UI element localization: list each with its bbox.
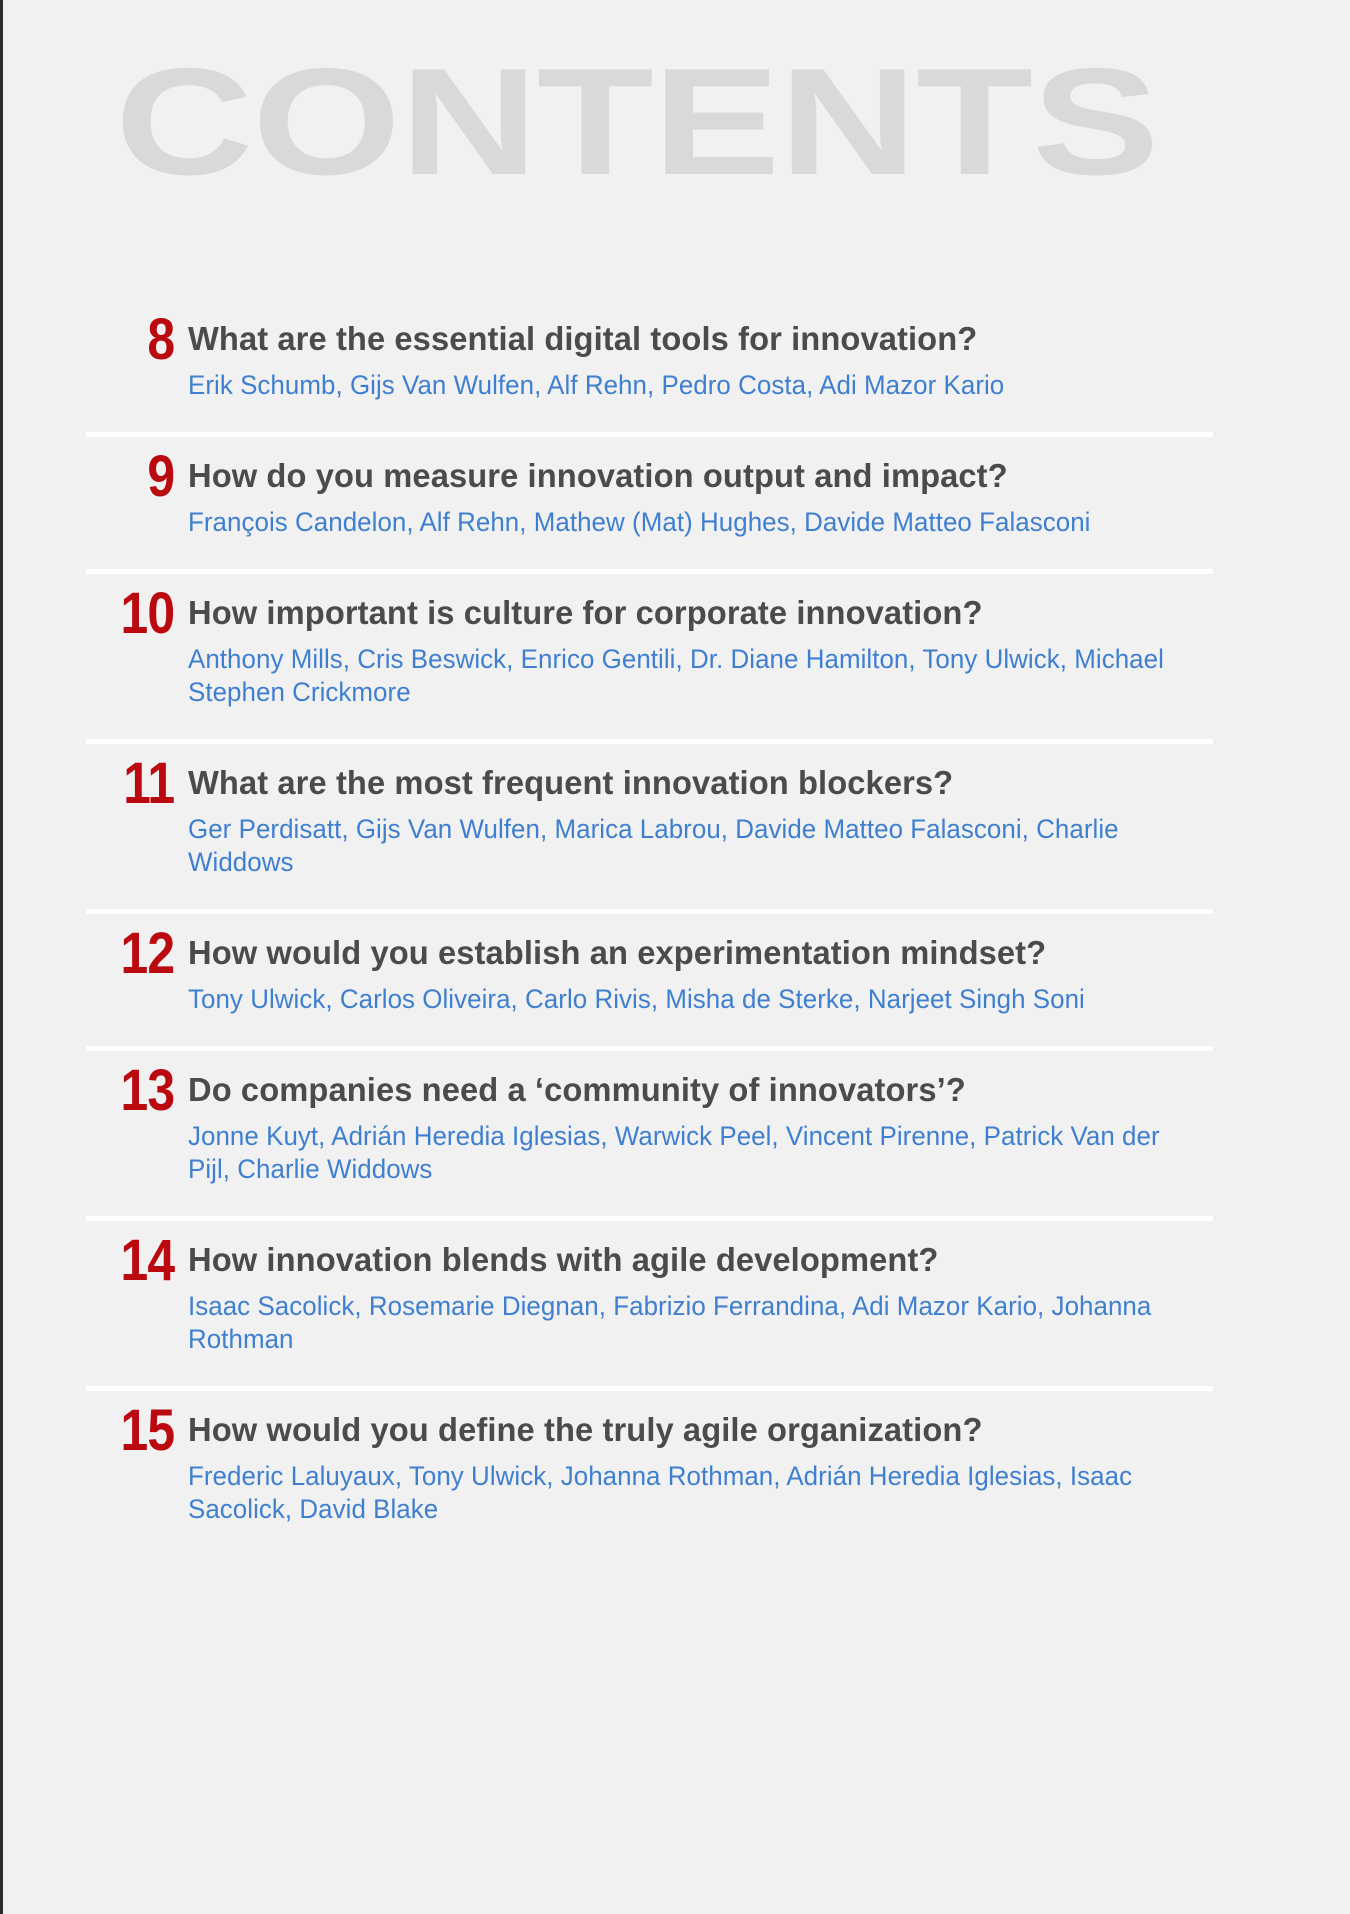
entry-number: 14	[29, 1235, 188, 1287]
toc-entry-inner: 15How would you define the truly agile o…	[3, 1391, 1350, 1556]
entry-number: 10	[29, 588, 188, 640]
toc-entry[interactable]: 13Do companies need a ‘community of inno…	[3, 1051, 1350, 1216]
entry-body: How do you measure innovation output and…	[188, 451, 1350, 539]
entry-body: How important is culture for corporate i…	[188, 588, 1350, 709]
entry-body: How innovation blends with agile develop…	[188, 1235, 1350, 1356]
entry-body: How would you define the truly agile org…	[188, 1405, 1350, 1526]
entry-number: 15	[29, 1405, 188, 1457]
toc-entry-inner: 8What are the essential digital tools fo…	[3, 300, 1350, 432]
entry-authors: Frederic Laluyaux, Tony Ulwick, Johanna …	[188, 1460, 1184, 1526]
entry-authors: Tony Ulwick, Carlos Oliveira, Carlo Rivi…	[188, 983, 1184, 1016]
toc-entry[interactable]: 9How do you measure innovation output an…	[3, 437, 1350, 569]
toc-entry[interactable]: 15How would you define the truly agile o…	[3, 1391, 1350, 1556]
toc-entry[interactable]: 14How innovation blends with agile devel…	[3, 1221, 1350, 1386]
toc-entry-inner: 9How do you measure innovation output an…	[3, 437, 1350, 569]
toc-entry[interactable]: 12How would you establish an experimenta…	[3, 914, 1350, 1046]
table-of-contents-list: 8What are the essential digital tools fo…	[3, 300, 1350, 1556]
entry-title[interactable]: How do you measure innovation output and…	[188, 454, 1215, 498]
toc-entry[interactable]: 10How important is culture for corporate…	[3, 574, 1350, 739]
entry-title[interactable]: What are the most frequent innovation bl…	[188, 761, 1215, 805]
entry-number: 11	[29, 758, 188, 810]
toc-entry[interactable]: 11What are the most frequent innovation …	[3, 744, 1350, 909]
entry-title[interactable]: How important is culture for corporate i…	[188, 591, 1215, 635]
entry-title[interactable]: How innovation blends with agile develop…	[188, 1238, 1215, 1282]
entry-body: What are the essential digital tools for…	[188, 314, 1350, 402]
entry-authors: Isaac Sacolick, Rosemarie Diegnan, Fabri…	[188, 1290, 1184, 1356]
entry-number: 9	[29, 451, 188, 503]
entry-authors: Ger Perdisatt, Gijs Van Wulfen, Marica L…	[188, 813, 1184, 879]
entry-authors: François Candelon, Alf Rehn, Mathew (Mat…	[188, 506, 1184, 539]
entry-body: What are the most frequent innovation bl…	[188, 758, 1350, 879]
entry-authors: Anthony Mills, Cris Beswick, Enrico Gent…	[188, 643, 1184, 709]
page-title: CONTENTS	[115, 46, 1158, 198]
entry-authors: Erik Schumb, Gijs Van Wulfen, Alf Rehn, …	[188, 369, 1184, 402]
entry-title[interactable]: How would you establish an experimentati…	[188, 931, 1215, 975]
entry-title[interactable]: What are the essential digital tools for…	[188, 317, 1215, 361]
entry-body: How would you establish an experimentati…	[188, 928, 1350, 1016]
toc-entry-inner: 10How important is culture for corporate…	[3, 574, 1350, 739]
entry-authors: Jonne Kuyt, Adrián Heredia Iglesias, War…	[188, 1120, 1184, 1186]
toc-entry-inner: 11What are the most frequent innovation …	[3, 744, 1350, 909]
toc-entry-inner: 12How would you establish an experimenta…	[3, 914, 1350, 1046]
entry-number: 13	[29, 1065, 188, 1117]
toc-entry-inner: 13Do companies need a ‘community of inno…	[3, 1051, 1350, 1216]
entry-title[interactable]: Do companies need a ‘community of innova…	[188, 1068, 1215, 1112]
entry-number: 12	[29, 928, 188, 980]
entry-body: Do companies need a ‘community of innova…	[188, 1065, 1350, 1186]
entry-title[interactable]: How would you define the truly agile org…	[188, 1408, 1215, 1452]
contents-page: CONTENTS 8What are the essential digital…	[0, 0, 1350, 1914]
toc-entry[interactable]: 8What are the essential digital tools fo…	[3, 300, 1350, 432]
entry-number: 8	[29, 314, 188, 366]
toc-entry-inner: 14How innovation blends with agile devel…	[3, 1221, 1350, 1386]
